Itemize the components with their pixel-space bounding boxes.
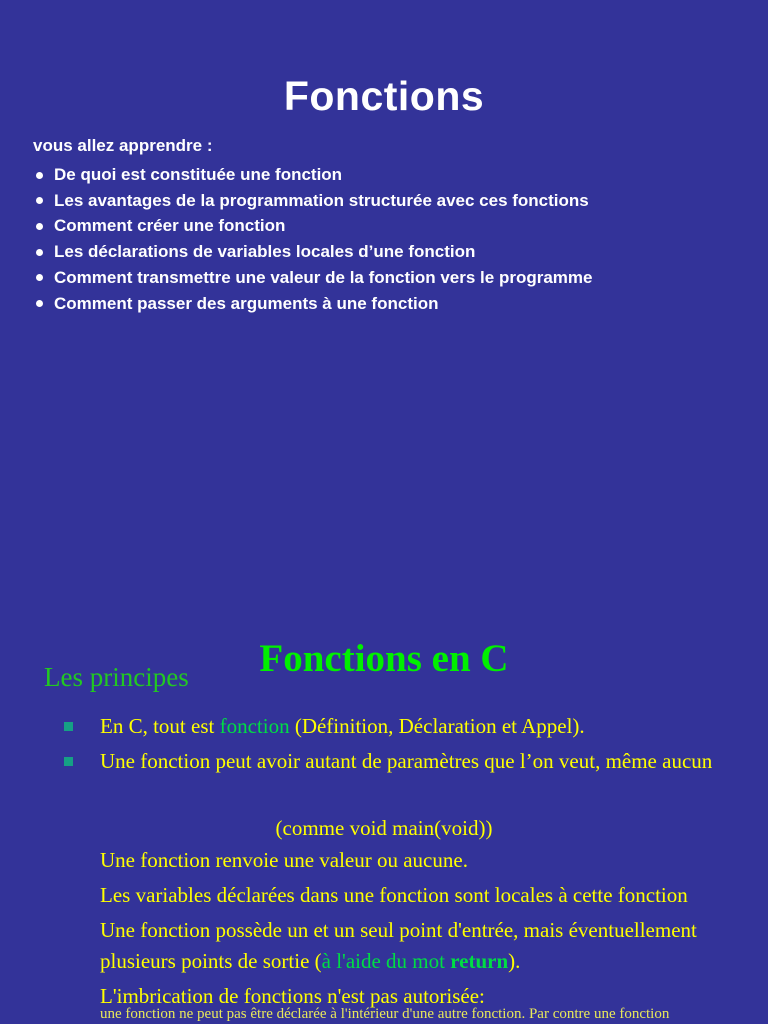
list-item: Une fonction possède un et un seul point… xyxy=(62,915,762,977)
list-item-label: Les variables déclarées dans une fonctio… xyxy=(100,883,688,907)
list-item: Les déclarations de variables locales d’… xyxy=(33,239,592,265)
objectives-intro-label: vous allez apprendre : xyxy=(33,135,213,157)
list-item-label: De quoi est constituée une fonction xyxy=(54,165,342,184)
section-subtitle: Les principes xyxy=(44,662,189,693)
slide-functions-in-c: Fonctions en C Les principes En C, tout … xyxy=(0,580,768,1024)
objectives-list: De quoi est constituée une fonction Les … xyxy=(33,162,592,316)
list-item: Comment créer une fonction xyxy=(33,213,592,239)
list-item-text-pre: En C, tout est xyxy=(100,714,220,738)
bullet-dot-icon xyxy=(36,197,43,204)
keyword-return: return xyxy=(450,949,508,973)
bullet-square-icon xyxy=(64,757,73,766)
bullet-dot-icon xyxy=(36,274,43,281)
list-item-text-post: ). xyxy=(508,949,520,973)
principles-list-continued: Une fonction renvoie une valeur ou aucun… xyxy=(62,845,762,1012)
bullet-square-icon xyxy=(64,722,73,731)
list-item: Une fonction renvoie une valeur ou aucun… xyxy=(62,845,762,876)
list-item: Les avantages de la programmation struct… xyxy=(33,188,592,214)
list-item: Comment transmettre une valeur de la fon… xyxy=(33,265,592,291)
bullet-dot-icon xyxy=(36,300,43,307)
bullet-dot-icon xyxy=(36,249,43,256)
list-item-label: Comment transmettre une valeur de la fon… xyxy=(54,268,592,287)
list-item-text-post: (Définition, Déclaration et Appel). xyxy=(290,714,585,738)
list-item-label: Les avantages de la programmation struct… xyxy=(54,191,589,210)
list-item: De quoi est constituée une fonction xyxy=(33,162,592,188)
keyword-fonction: fonction xyxy=(220,714,290,738)
list-item-label: Comment passer des arguments à une fonct… xyxy=(54,294,438,313)
bullet-dot-icon xyxy=(36,172,43,179)
slide-intro: Fonctions vous allez apprendre : De quoi… xyxy=(0,0,768,580)
list-item: Une fonction peut avoir autant de paramè… xyxy=(62,746,762,777)
aside-note: (comme void main(void)) xyxy=(0,816,768,841)
clipped-continuation-text: une fonction ne peut pas être déclarée à… xyxy=(100,1006,768,1023)
slide-page: { "colors": { "background": "#333399", "… xyxy=(0,0,768,1024)
list-item-label: L'imbrication de fonctions n'est pas aut… xyxy=(100,984,485,1008)
list-item-label: Comment créer une fonction xyxy=(54,216,285,235)
bullet-dot-icon xyxy=(36,223,43,230)
accent-phrase: à l'aide du mot xyxy=(322,949,451,973)
list-item: Comment passer des arguments à une fonct… xyxy=(33,291,592,317)
list-item: Les variables déclarées dans une fonctio… xyxy=(62,880,762,911)
list-item-label: Une fonction renvoie une valeur ou aucun… xyxy=(100,848,468,872)
list-item-label: Les déclarations de variables locales d’… xyxy=(54,242,475,261)
page-title: Fonctions xyxy=(0,73,768,120)
list-item-label: Une fonction peut avoir autant de paramè… xyxy=(100,749,712,773)
list-item: En C, tout est fonction (Définition, Déc… xyxy=(62,711,762,742)
principles-list: En C, tout est fonction (Définition, Déc… xyxy=(62,711,762,781)
